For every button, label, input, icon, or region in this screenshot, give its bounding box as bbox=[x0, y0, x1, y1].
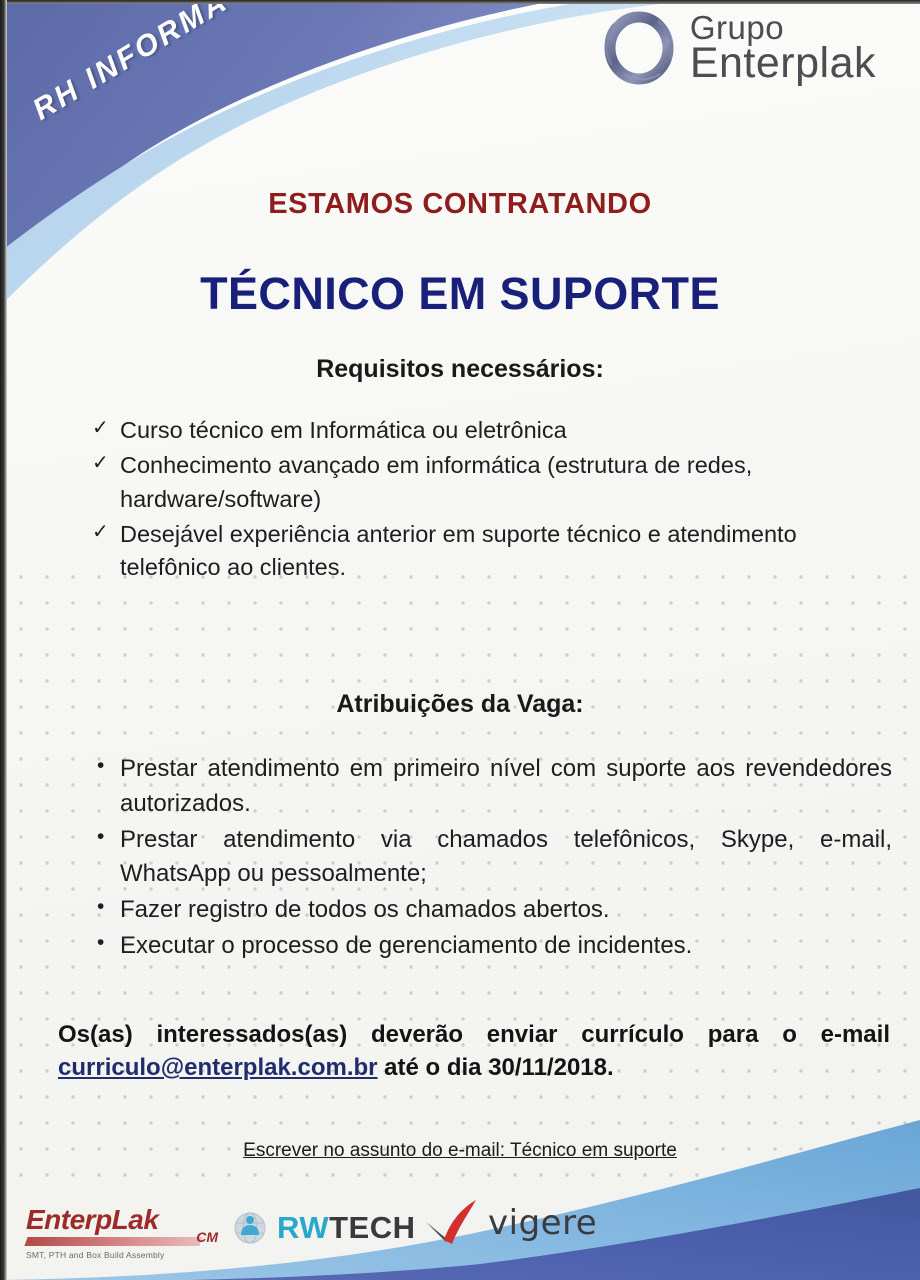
check-icon: ✓ bbox=[92, 518, 109, 546]
page-title: TÉCNICO EM SUPORTE bbox=[0, 268, 920, 320]
list-item: • Fazer registro de todos os chamados ab… bbox=[92, 893, 892, 928]
scan-edge-top bbox=[0, 0, 920, 4]
requirements-list: ✓ Curso técnico em Informática ou eletrô… bbox=[92, 414, 892, 587]
bullet-icon: • bbox=[97, 928, 104, 958]
ring-icon bbox=[600, 8, 678, 88]
list-item: • Executar o processo de gerenciamento d… bbox=[92, 929, 892, 964]
list-item-text: Prestar atendimento via chamados telefôn… bbox=[120, 826, 892, 888]
list-item: ✓ Conhecimento avançado em informática (… bbox=[92, 449, 892, 516]
partner-logos: EnterpLak CM SMT, PTH and Box Build Asse… bbox=[0, 1180, 920, 1266]
email-subject-note-text: Escrever no assunto do e-mail: Técnico e… bbox=[243, 1140, 677, 1161]
job-posting-poster: RH INFORMA bbox=[0, 0, 920, 1280]
check-icon: ✓ bbox=[92, 414, 109, 442]
apply-text-after: até o dia 30/11/2018. bbox=[378, 1054, 614, 1081]
enterplak-swoosh bbox=[24, 1237, 202, 1246]
list-item: ✓ Curso técnico em Informática ou eletrô… bbox=[92, 414, 892, 447]
rwtech-part-b: TECH bbox=[329, 1210, 415, 1245]
brand-wordmark: Grupo Enterplak bbox=[690, 12, 876, 83]
scan-edge-left bbox=[0, 0, 7, 1280]
vigere-wordmark: vigere bbox=[488, 1203, 597, 1243]
globe-person-icon bbox=[232, 1210, 268, 1246]
list-item: ✓ Desejável experiência anterior em supo… bbox=[92, 518, 892, 585]
logo-rwtech: RWTECH bbox=[232, 1210, 415, 1246]
email-subject-note: Escrever no assunto do e-mail: Técnico e… bbox=[0, 1140, 920, 1162]
list-item: • Prestar atendimento em primeiro nível … bbox=[92, 752, 892, 822]
check-icon: ✓ bbox=[92, 449, 109, 477]
list-item: • Prestar atendimento via chamados telef… bbox=[92, 823, 892, 893]
enterplak-tagline: SMT, PTH and Box Build Assembly bbox=[26, 1250, 226, 1260]
rwtech-wordmark: RWTECH bbox=[277, 1210, 415, 1246]
list-item-text: Curso técnico em Informática ou eletrôni… bbox=[120, 417, 567, 443]
apply-text-before: Os(as) interessados(as) deverão enviar c… bbox=[58, 1021, 890, 1048]
enterplak-badge-cm: CM bbox=[196, 1229, 218, 1245]
duties-heading: Atribuições da Vaga: bbox=[0, 690, 920, 719]
duties-list: • Prestar atendimento em primeiro nível … bbox=[92, 752, 892, 965]
list-item-text: Prestar atendimento em primeiro nível co… bbox=[120, 755, 892, 817]
application-instructions: Os(as) interessados(as) deverão enviar c… bbox=[58, 1018, 890, 1084]
logo-vigere: vigere bbox=[424, 1198, 597, 1248]
enterplak-word-text: EnterpLak bbox=[26, 1204, 158, 1235]
list-item-text: Desejável experiência anterior em suport… bbox=[120, 521, 797, 580]
kicker-heading: ESTAMOS CONTRATANDO bbox=[0, 188, 920, 221]
bullet-icon: • bbox=[97, 751, 104, 781]
list-item-text: Executar o processo de gerenciamento de … bbox=[120, 932, 692, 959]
check-swoosh-icon bbox=[424, 1198, 486, 1248]
rwtech-part-a: RW bbox=[277, 1210, 329, 1245]
bullet-icon: • bbox=[97, 892, 104, 922]
requirements-heading: Requisitos necessários: bbox=[0, 355, 920, 384]
list-item-text: Conhecimento avançado em informática (es… bbox=[120, 452, 752, 511]
bullet-icon: • bbox=[97, 822, 104, 852]
email-link[interactable]: curriculo@enterplak.com.br bbox=[58, 1054, 378, 1081]
brand-logo: Grupo Enterplak bbox=[600, 8, 876, 88]
logo-enterplak: EnterpLak CM SMT, PTH and Box Build Asse… bbox=[26, 1204, 226, 1260]
brand-line-enterplak: Enterplak bbox=[690, 43, 876, 83]
list-item-text: Fazer registro de todos os chamados aber… bbox=[120, 896, 610, 923]
